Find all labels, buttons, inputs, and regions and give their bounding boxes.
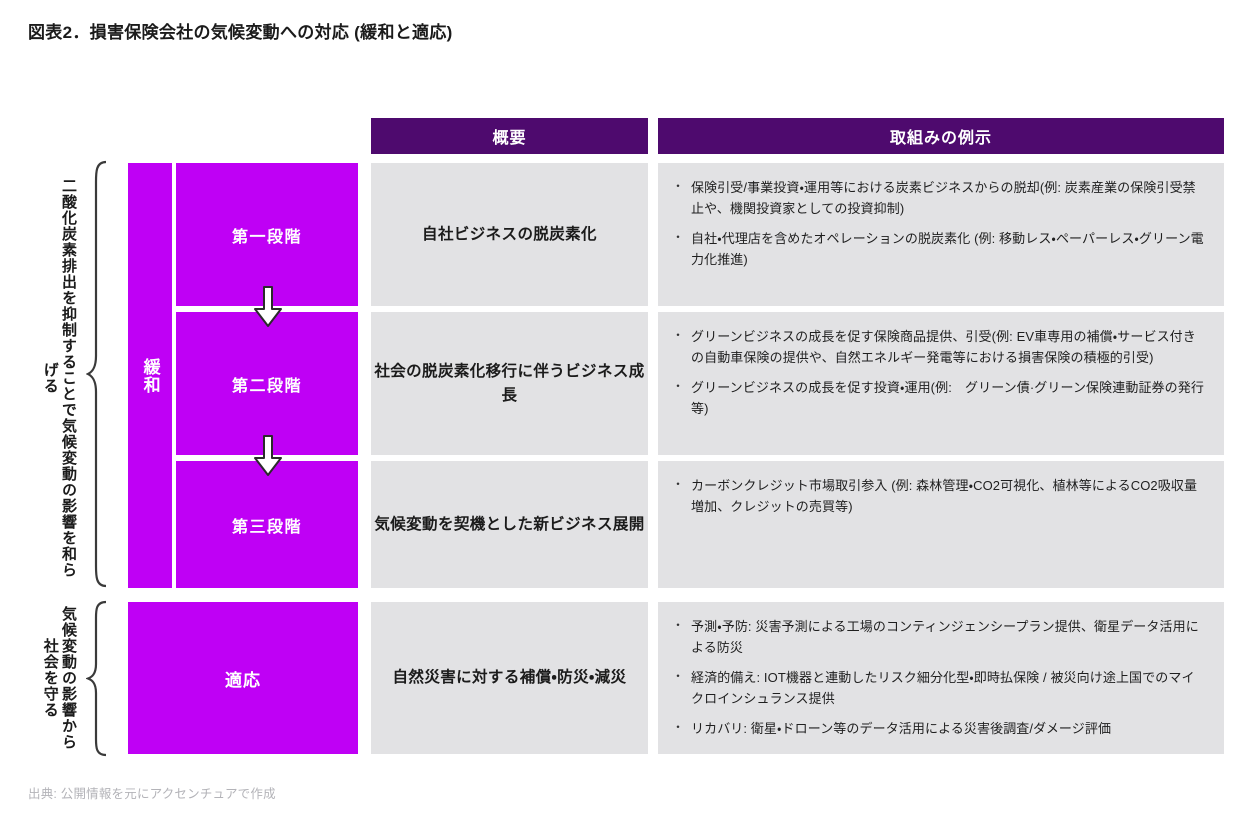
- bullet-item: 保険引受/事業投資・運用等における炭素ビジネスからの脱却(例: 炭素産業の保険引…: [672, 177, 1206, 219]
- category-label-mitigation: 緩和: [139, 358, 160, 394]
- bullet-item: 経済的備え: IOT機器と連動したリスク細分化型・即時払保険 / 被災向け途上国…: [672, 667, 1206, 709]
- side-label-mitigation: 二酸化炭素排出を抑制することで気候変動の影響を和らげる: [33, 170, 77, 585]
- examples-cell-4: 予測・予防: 災害予測による工場のコンティンジェンシープラン提供、衛星データ活用…: [658, 602, 1224, 754]
- bullet-list-4: 予測・予防: 災害予測による工場のコンティンジェンシープラン提供、衛星データ活用…: [672, 616, 1206, 739]
- bullet-item: グリーンビジネスの成長を促す保険商品提供、引受(例: EV車専用の補償・サービス…: [672, 326, 1206, 368]
- curly-brace-icon-adaptation: [86, 600, 108, 757]
- summary-cell-3: 気候変動を契機とした新ビジネス展開: [371, 461, 648, 588]
- source-note: 出典: 公開情報を元にアクセンチュアで作成: [28, 783, 276, 802]
- column-header-examples: 取組みの例示: [658, 118, 1224, 154]
- bullet-list-1: 保険引受/事業投資・運用等における炭素ビジネスからの脱却(例: 炭素産業の保険引…: [672, 177, 1206, 270]
- stage-box-3: 第三段階: [176, 461, 358, 588]
- examples-cell-2: グリーンビジネスの成長を促す保険商品提供、引受(例: EV車専用の補償・サービス…: [658, 312, 1224, 455]
- summary-cell-2: 社会の脱炭素化移行に伴うビジネス成長: [371, 312, 648, 455]
- stage-box-2: 第二段階: [176, 312, 358, 455]
- page-title: 図表2．損害保険会社の気候変動への対応 (緩和と適応): [28, 18, 453, 43]
- stage-box-1: 第一段階: [176, 163, 358, 306]
- bullet-list-2: グリーンビジネスの成長を促す保険商品提供、引受(例: EV車専用の補償・サービス…: [672, 326, 1206, 419]
- category-box-adaptation: 適応: [128, 602, 358, 754]
- side-label-adaptation: 気候変動の影響から社会を守る: [33, 600, 77, 755]
- bullet-item: 予測・予防: 災害予測による工場のコンティンジェンシープラン提供、衛星データ活用…: [672, 616, 1206, 658]
- bullet-item: グリーンビジネスの成長を促す投資・運用(例: グリーン債·グリーン保険連動証券の…: [672, 377, 1206, 419]
- column-header-summary: 概要: [371, 118, 648, 154]
- summary-cell-4: 自然災害に対する補償・防災・減災: [371, 602, 648, 754]
- bullet-item: 自社・代理店を含めたオペレーションの脱炭素化 (例: 移動レス・ペーパーレス・グ…: [672, 228, 1206, 270]
- bullet-item: カーボンクレジット市場取引参入 (例: 森林管理・CO2可視化、植林等によるCO…: [672, 475, 1206, 517]
- summary-cell-1: 自社ビジネスの脱炭素化: [371, 163, 648, 306]
- curly-brace-icon-mitigation: [86, 160, 108, 588]
- bullet-item: リカバリ: 衛星・ドローン等のデータ活用による災害後調査/ダメージ評価: [672, 718, 1206, 739]
- bullet-list-3: カーボンクレジット市場取引参入 (例: 森林管理・CO2可視化、植林等によるCO…: [672, 475, 1206, 517]
- examples-cell-3: カーボンクレジット市場取引参入 (例: 森林管理・CO2可視化、植林等によるCO…: [658, 461, 1224, 588]
- examples-cell-1: 保険引受/事業投資・運用等における炭素ビジネスからの脱却(例: 炭素産業の保険引…: [658, 163, 1224, 306]
- category-box-mitigation: 緩和: [128, 163, 172, 588]
